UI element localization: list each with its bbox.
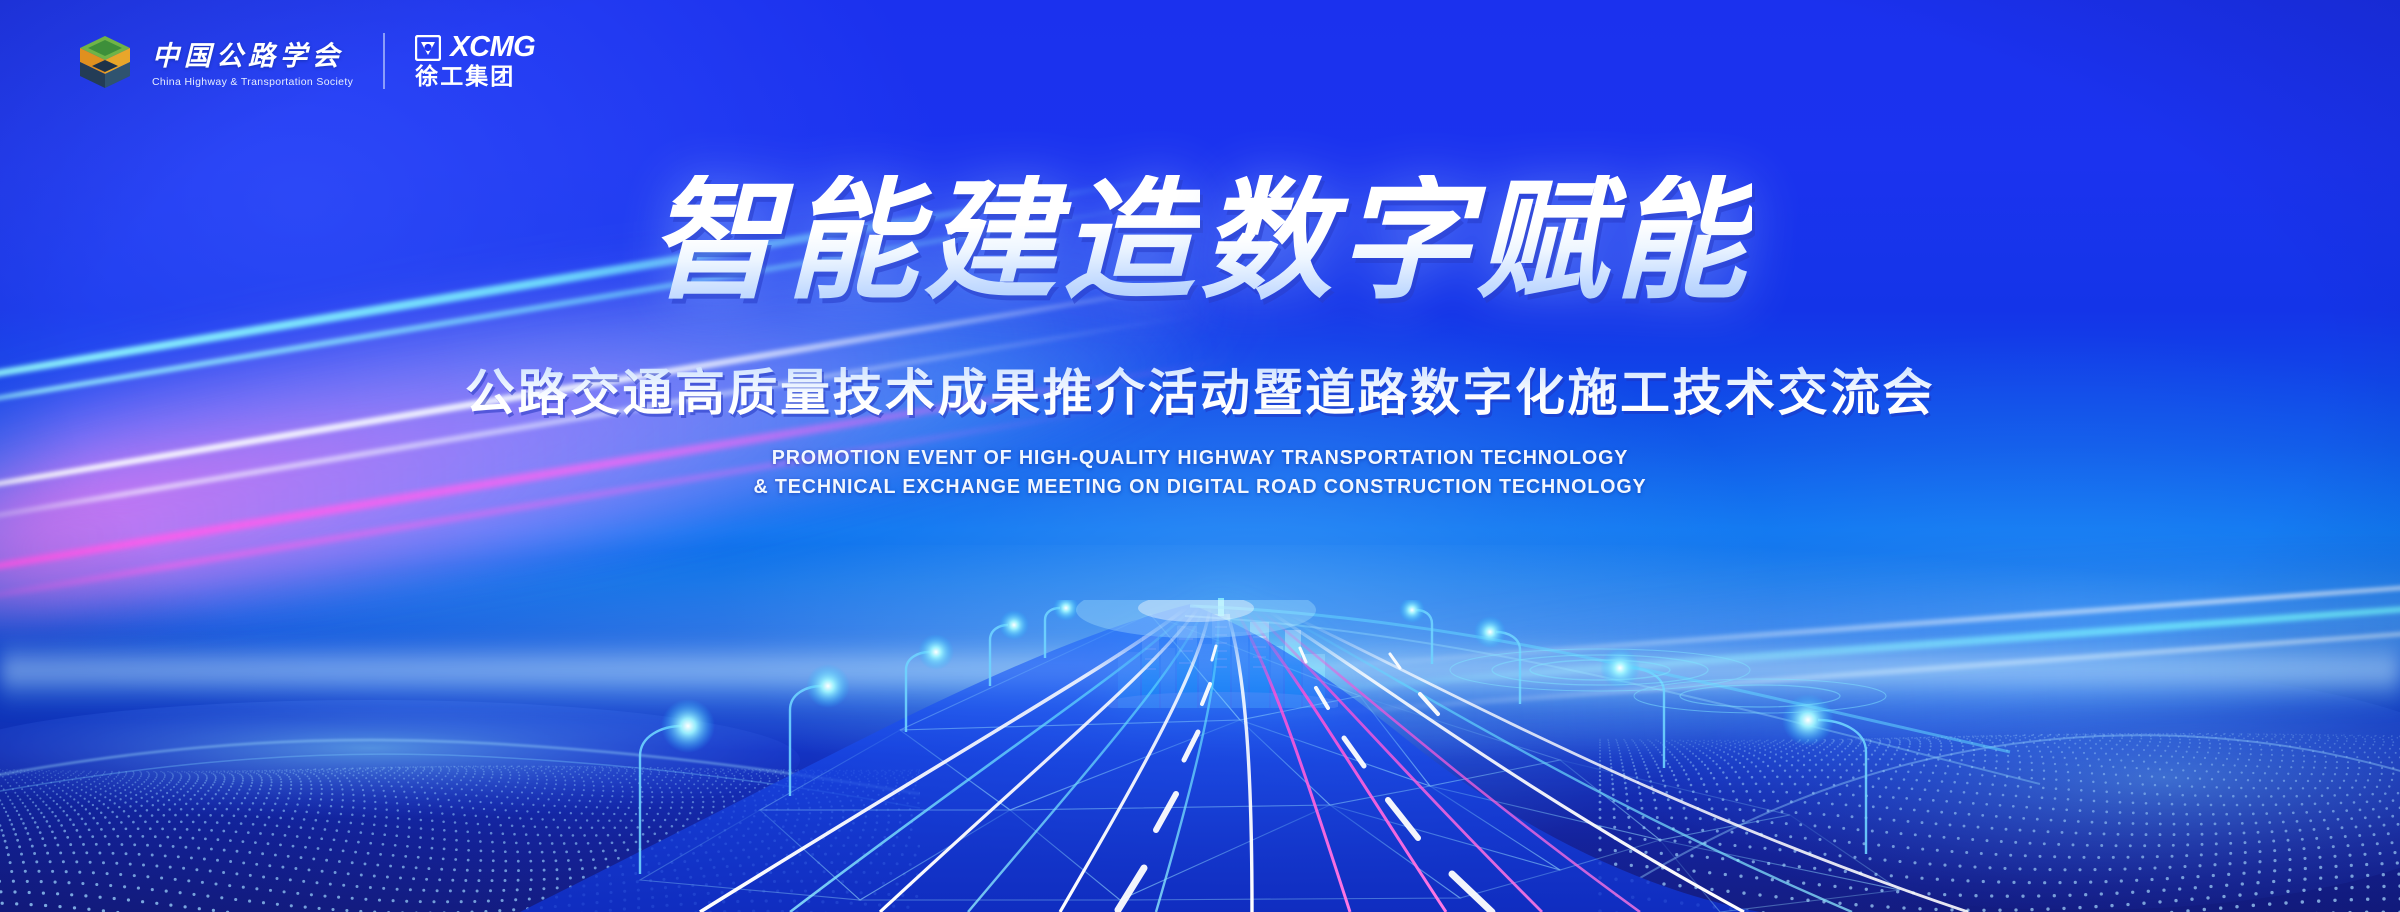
ribbon-magenta-secondary: [0, 397, 1164, 634]
english-line-2: & TECHNICAL EXCHANGE MEETING ON DIGITAL …: [48, 472, 2352, 501]
logo-bar: 中国公路学会 China Highway & Transportation So…: [74, 30, 535, 92]
xcmg-badge-icon: [415, 35, 441, 61]
english-subtitle-block: PROMOTION EVENT OF HIGH-QUALITY HIGHWAY …: [0, 443, 2400, 501]
headline-block: 智能建造数字赋能: [0, 175, 2400, 307]
ambient-glow-top-left: [0, 0, 1000, 700]
xcmg-name-cn: 徐工集团: [415, 66, 535, 89]
society-logo[interactable]: 中国公路学会 China Highway & Transportation So…: [74, 30, 353, 92]
ribbon-white-secondary: [0, 310, 1210, 556]
xcmg-logo[interactable]: XCMG 徐工集团: [415, 33, 535, 89]
digital-highway-graphic: [0, 600, 2400, 912]
conference-banner: 中国公路学会 China Highway & Transportation So…: [0, 0, 2400, 912]
subtitle-cn: 公路交通高质量技术成果推介活动暨道路数字化施工技术交流会: [465, 366, 1935, 421]
society-name-cn: 中国公路学会: [152, 34, 353, 73]
society-cube-icon: [74, 30, 136, 92]
xcmg-wordmark: XCMG: [450, 33, 535, 62]
logo-divider: [383, 33, 385, 89]
headline-part1: 智能建造: [648, 175, 1200, 307]
subtitle-block: 公路交通高质量技术成果推介活动暨道路数字化施工技术交流会: [0, 366, 2400, 421]
headline-part2: 数字赋能: [1200, 175, 1752, 307]
society-name-en: China Highway & Transportation Society: [152, 76, 353, 88]
english-line-1: PROMOTION EVENT OF HIGH-QUALITY HIGHWAY …: [48, 443, 2352, 472]
